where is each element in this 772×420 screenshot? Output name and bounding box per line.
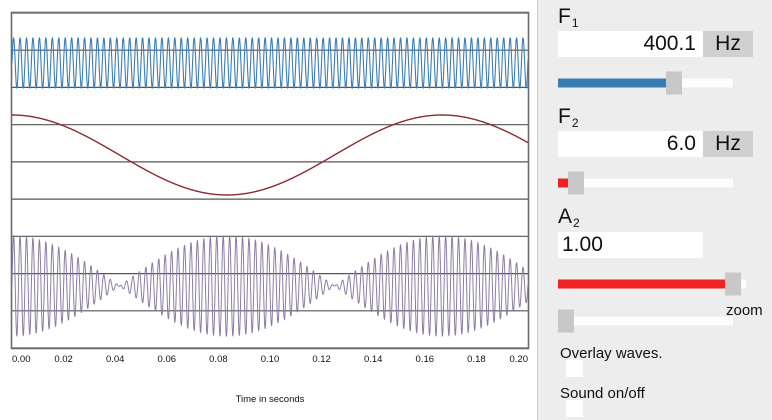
a2-slider-handle[interactable] (725, 272, 741, 295)
f1-slider-fill (558, 78, 674, 87)
x-tick-label: 0.04 (106, 354, 125, 365)
f2-label: F2 (558, 106, 578, 127)
f1-unit-label: Hz (703, 31, 753, 57)
zoom-slider-handle[interactable] (558, 309, 574, 332)
waveform-chart: 0.000.020.040.060.080.100.120.140.160.18… (0, 0, 537, 420)
x-tick-label: 0.08 (209, 354, 228, 365)
a2-label: A2 (558, 206, 579, 227)
f2-label-text: F (558, 105, 571, 128)
x-tick-label: 0.10 (261, 354, 280, 365)
f2-label-subscript: 2 (572, 116, 579, 130)
waveform-plot-panel: 0.000.020.040.060.080.100.120.140.160.18… (0, 0, 537, 420)
f2-slider-track[interactable] (558, 178, 733, 187)
a2-slider-fill (558, 279, 733, 288)
x-tick-label: 0.18 (467, 354, 486, 365)
f2-unit-label: Hz (703, 131, 753, 157)
sound-on-off-label: Sound on/off (560, 386, 645, 401)
f1-value-field[interactable]: 400.1 (558, 31, 703, 57)
a2-slider[interactable] (558, 272, 746, 295)
a2-label-text: A (558, 205, 572, 228)
f2-value-row: 6.0 Hz (558, 131, 753, 157)
a2-value-field[interactable]: 1.00 (558, 232, 703, 258)
x-tick-label: 0.14 (364, 354, 383, 365)
x-tick-label: 0.02 (54, 354, 73, 365)
f1-value-row: 400.1 Hz (558, 31, 753, 57)
sound-on-off-checkbox[interactable] (566, 400, 583, 417)
f1-label: F1 (558, 6, 578, 27)
f2-slider-handle[interactable] (568, 171, 584, 194)
f2-value-field[interactable]: 6.0 (558, 131, 703, 157)
a2-label-subscript: 2 (573, 216, 580, 230)
overlay-waves-label: Overlay waves. (560, 346, 663, 361)
x-tick-label: 0.20 (510, 354, 529, 365)
x-axis-label: Time in seconds (236, 394, 305, 405)
zoom-slider[interactable] (558, 309, 733, 332)
x-tick-label: 0.12 (312, 354, 331, 365)
f1-label-text: F (558, 5, 571, 28)
f1-slider-handle[interactable] (666, 71, 682, 94)
zoom-slider-track[interactable] (558, 316, 733, 325)
controls-panel: F1 400.1 Hz F2 6.0 Hz A2 1.00 (537, 0, 772, 420)
f1-label-subscript: 1 (572, 16, 579, 30)
x-tick-label: 0.00 (12, 354, 31, 365)
x-tick-label: 0.16 (416, 354, 435, 365)
a2-value-row: 1.00 (558, 232, 703, 258)
x-tick-label: 0.06 (158, 354, 177, 365)
f2-slider[interactable] (558, 171, 733, 194)
overlay-waves-checkbox[interactable] (566, 360, 583, 377)
f1-slider[interactable] (558, 71, 733, 94)
